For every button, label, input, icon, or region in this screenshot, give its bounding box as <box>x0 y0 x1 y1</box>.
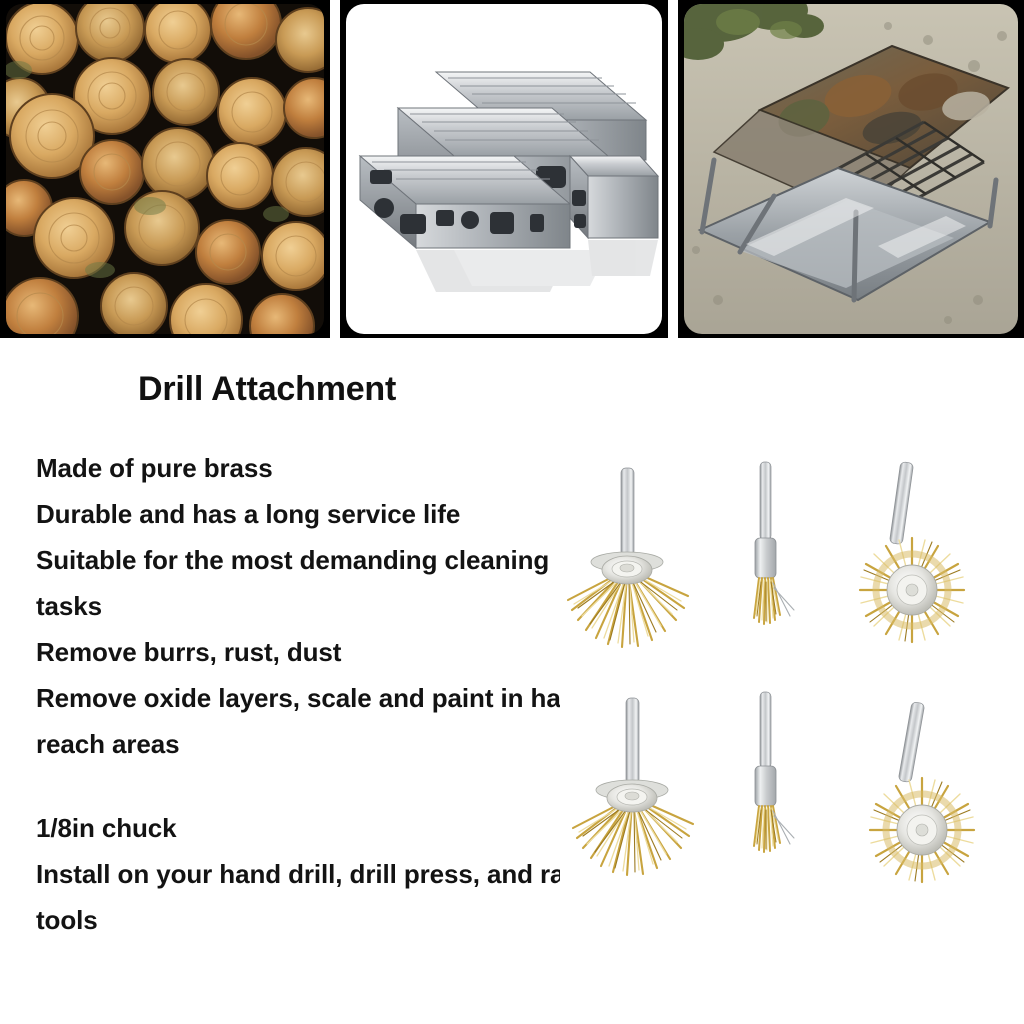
spec-item: 1/8in chuck <box>36 805 626 851</box>
product-images <box>560 450 1024 920</box>
panel-gap-right <box>668 0 678 342</box>
photo-panel-aluminum-extrusion <box>340 0 668 338</box>
feature-item: Remove oxide layers, scale and paint in … <box>36 675 626 721</box>
spec-list: 1/8in chuck Install on your hand drill, … <box>36 805 626 943</box>
feature-item: tasks <box>36 583 626 629</box>
photo-panel-stacked-logs <box>0 0 330 338</box>
feature-item: Made of pure brass <box>36 445 626 491</box>
feature-list: Made of pure brass Durable and has a lon… <box>36 445 626 767</box>
spec-item: tools <box>36 897 626 943</box>
photo-panel-rusty-bbq-grill <box>678 0 1024 338</box>
photo-band <box>0 0 1024 338</box>
panel-gap-left <box>330 0 340 342</box>
page-title: Drill Attachment <box>138 370 396 409</box>
feature-item: reach areas <box>36 721 626 767</box>
feature-item: Durable and has a long service life <box>36 491 626 537</box>
feature-item: Suitable for the most demanding cleaning <box>36 537 626 583</box>
feature-item: Remove burrs, rust, dust <box>36 629 626 675</box>
spec-item: Install on your hand drill, drill press,… <box>36 851 626 897</box>
product-infographic: Drill Attachment Made of pure brass Dura… <box>0 0 1024 1024</box>
